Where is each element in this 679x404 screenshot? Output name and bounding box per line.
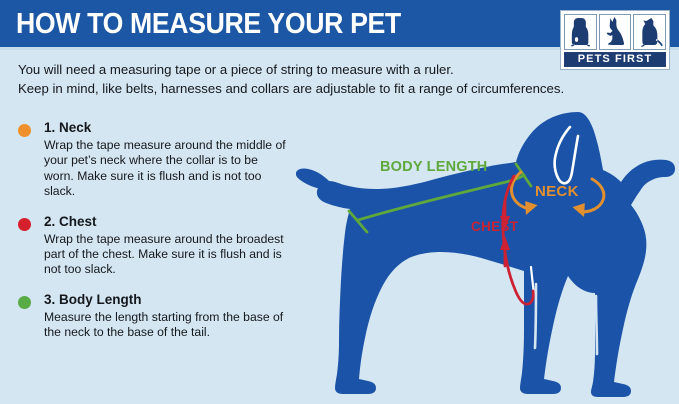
dog-silhouette-icon bbox=[296, 112, 675, 397]
label-chest: CHEST bbox=[471, 219, 518, 234]
bullet-neck-icon bbox=[18, 124, 31, 137]
intro-line-1: You will need a measuring tape or a piec… bbox=[18, 60, 578, 79]
label-body-length: BODY LENGTH bbox=[380, 159, 487, 175]
logo-wordmark: PETS FIRST bbox=[564, 52, 666, 67]
how-to-measure-pet-infographic: HOW TO MEASURE YOUR PET PETS FIRST bbox=[0, 0, 679, 404]
list-item: 3. Body Length Measure the length starti… bbox=[18, 292, 290, 341]
list-item: 2. Chest Wrap the tape measure around th… bbox=[18, 214, 290, 278]
step-title: 1. Neck bbox=[44, 120, 290, 136]
step-body: Wrap the tape measure around the broades… bbox=[44, 232, 290, 278]
dog-sitting-icon bbox=[564, 14, 597, 50]
label-neck: NECK bbox=[535, 183, 579, 200]
bullet-chest-icon bbox=[18, 218, 31, 231]
logo-panels bbox=[564, 14, 666, 50]
page-title: HOW TO MEASURE YOUR PET bbox=[16, 7, 401, 41]
step-body: Wrap the tape measure around the middle … bbox=[44, 138, 290, 200]
bullet-body-length-icon bbox=[18, 296, 31, 309]
list-item: 1. Neck Wrap the tape measure around the… bbox=[18, 120, 290, 200]
dog-begging-icon bbox=[599, 14, 632, 50]
measurement-steps-list: 1. Neck Wrap the tape measure around the… bbox=[18, 120, 290, 355]
dog-diagram-svg bbox=[296, 104, 679, 404]
step-title: 2. Chest bbox=[44, 214, 290, 230]
dog-measurement-diagram: BODY LENGTH NECK CHEST bbox=[296, 104, 679, 404]
intro-line-2: Keep in mind, like belts, harnesses and … bbox=[18, 79, 578, 98]
step-title: 3. Body Length bbox=[44, 292, 290, 308]
step-body: Measure the length starting from the bas… bbox=[44, 310, 290, 341]
dog-howling-icon bbox=[633, 14, 666, 50]
intro-text: You will need a measuring tape or a piec… bbox=[18, 60, 578, 98]
